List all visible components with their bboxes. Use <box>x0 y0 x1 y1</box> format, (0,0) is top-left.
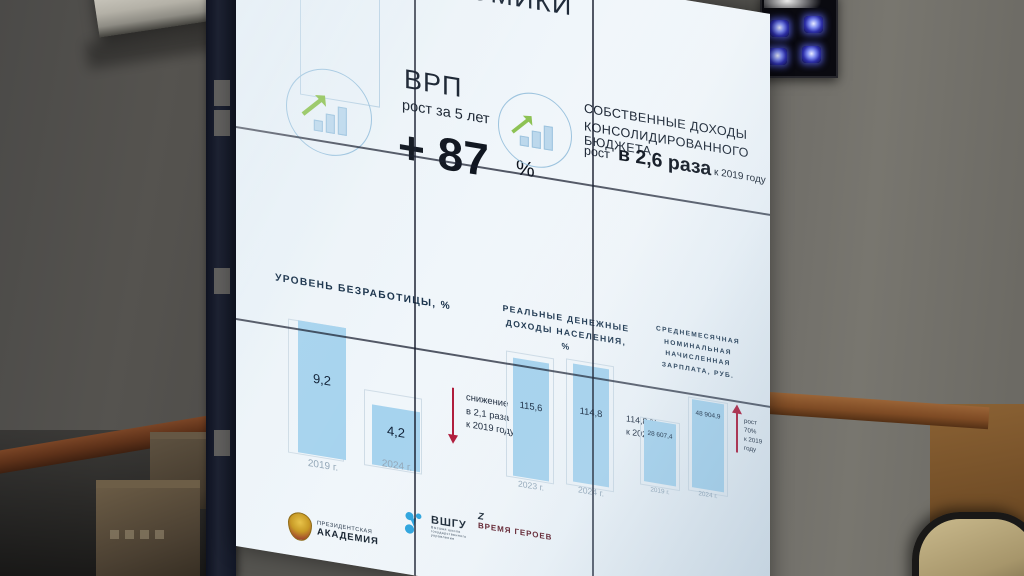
bar-2023-income <box>513 358 549 482</box>
growth-chart-icon <box>498 87 572 173</box>
mount-bracket <box>214 268 230 294</box>
led-light <box>770 20 789 37</box>
bar-icon-bars <box>520 121 553 150</box>
kpi-grp-value: + 87 <box>398 119 489 188</box>
mount-bracket <box>214 430 230 456</box>
chart-wage-annotation: рост 70% к 2019 году <box>744 418 770 458</box>
academy-crest-icon <box>288 511 312 543</box>
mount-bracket <box>214 110 230 136</box>
mount-bracket <box>214 80 230 106</box>
box-printed-label <box>110 530 168 539</box>
chart-wage-title: СРЕДНЕМЕСЯЧНАЯ НОМИНАЛЬНАЯ НАЧИСЛЕННАЯ З… <box>642 321 754 386</box>
cardboard-box <box>96 480 200 576</box>
chart-unemployment-title: УРОВЕНЬ БЕЗРАБОТИЦЫ, % <box>270 270 456 316</box>
room-scene: РОСТ ЭКОНОМИКИ ВРП рост за 5 лет + 87 % <box>0 0 1024 576</box>
bar-icon-bars <box>314 103 347 136</box>
kpi-budget-prefix: рост <box>584 143 610 161</box>
videowall-bezel-vertical <box>414 0 416 576</box>
logo-time-of-heroes: Z ВРЕМЯ ГЕРОЕВ <box>478 512 552 542</box>
slide-content: РОСТ ЭКОНОМИКИ ВРП рост за 5 лет + 87 % <box>236 0 770 576</box>
led-light <box>768 48 787 65</box>
decrease-arrow-icon <box>452 388 454 436</box>
logo-presidential-academy: ПРЕЗИДЕНТСКАЯ АКАДЕМИЯ <box>288 511 379 554</box>
videowall-display[interactable]: РОСТ ЭКОНОМИКИ ВРП рост за 5 лет + 87 % <box>236 0 770 576</box>
led-panel-glint <box>764 0 822 8</box>
bar-2019-unemployment <box>298 320 346 460</box>
increase-arrow-icon <box>736 412 738 452</box>
led-light <box>804 16 823 33</box>
led-light <box>802 46 821 63</box>
annotation-line: к 2019 году <box>744 436 770 458</box>
videowall-bezel-vertical <box>592 0 594 576</box>
led-light-panel <box>760 0 838 78</box>
bar-2024-income <box>573 363 609 487</box>
